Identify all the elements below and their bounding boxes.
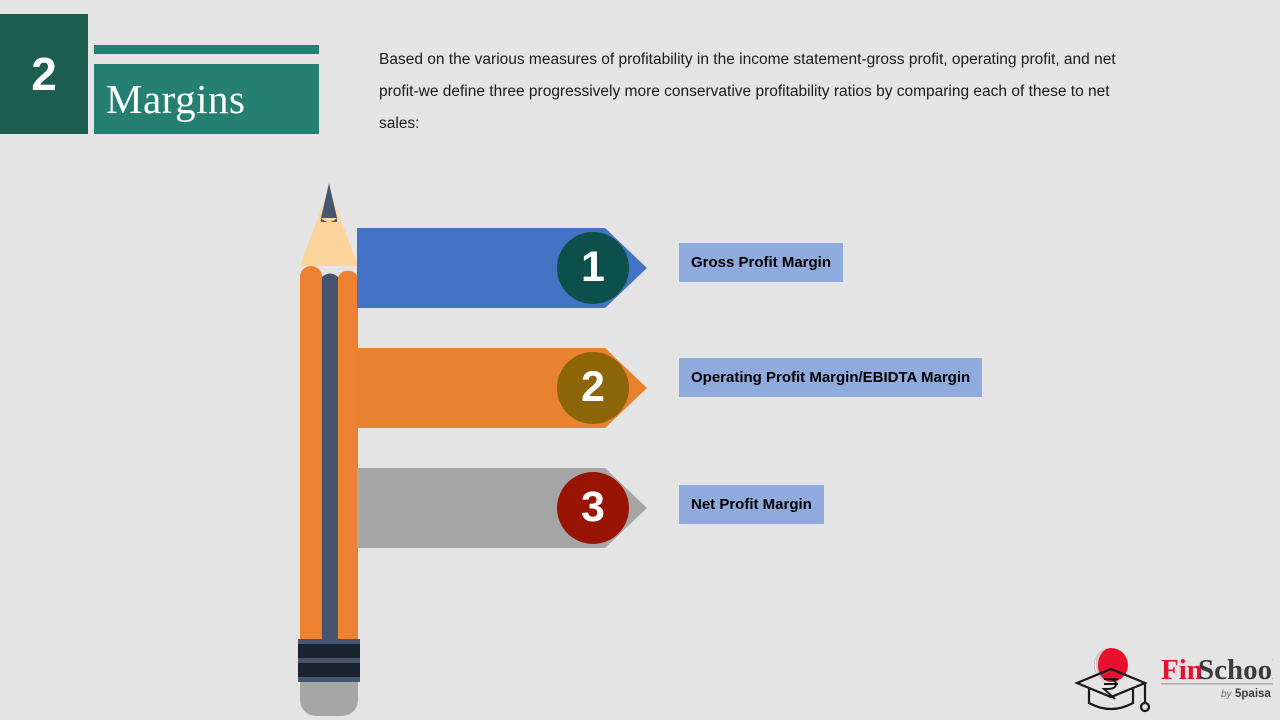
pencil-graphite-point bbox=[321, 183, 337, 218]
arrow-badge-number-3: 3 bbox=[581, 486, 605, 529]
logo-sphere bbox=[1094, 648, 1128, 682]
title-accent-rule bbox=[94, 45, 319, 54]
logo-text-fin: Fin bbox=[1161, 654, 1203, 686]
pencil-eraser bbox=[300, 682, 358, 716]
page-title: Margins bbox=[94, 64, 319, 134]
pencil-barrel-right bbox=[338, 271, 358, 637]
arrow-badge-1: 1 bbox=[557, 232, 629, 304]
label-gross-profit-margin[interactable]: Gross Profit Margin bbox=[679, 243, 843, 282]
logo-text-school: School bbox=[1198, 654, 1273, 686]
finschool-logo: Fin School by 5paisa bbox=[1073, 645, 1273, 717]
intro-paragraph: Based on the various measures of profita… bbox=[379, 44, 1154, 140]
arrow-badge-3: 3 bbox=[557, 472, 629, 544]
pencil-ferrule-dark-1 bbox=[298, 644, 360, 658]
pencil-barrel-core bbox=[322, 274, 338, 637]
logo-tagline-brand: 5paisa bbox=[1235, 688, 1271, 700]
pencil-illustration bbox=[296, 182, 366, 720]
arrow-row-2[interactable]: 2 bbox=[357, 348, 647, 428]
pencil-ferrule-band-3 bbox=[298, 677, 360, 682]
arrow-row-3[interactable]: 3 bbox=[357, 468, 647, 548]
arrow-badge-number-1: 1 bbox=[581, 246, 605, 289]
step-number-badge: 2 bbox=[0, 14, 88, 134]
arrow-row-1[interactable]: 1 bbox=[357, 228, 647, 308]
pencil-ferrule-band-1 bbox=[298, 639, 360, 644]
pencil-ferrule-dark-2 bbox=[298, 663, 360, 677]
label-net-profit-margin[interactable]: Net Profit Margin bbox=[679, 485, 824, 524]
label-operating-profit-margin[interactable]: Operating Profit Margin/EBIDTA Margin bbox=[679, 358, 982, 397]
page-title-text: Margins bbox=[94, 79, 245, 120]
arrow-badge-2: 2 bbox=[557, 352, 629, 424]
step-number-text: 2 bbox=[31, 51, 57, 97]
slide-header: 2 Margins Based on the various measures … bbox=[0, 0, 1280, 140]
pencil-barrel-left bbox=[300, 266, 322, 637]
pencil-ferrule-band-2 bbox=[298, 658, 360, 663]
arrow-badge-number-2: 2 bbox=[581, 366, 605, 409]
logo-tagline-by: by bbox=[1221, 689, 1233, 700]
